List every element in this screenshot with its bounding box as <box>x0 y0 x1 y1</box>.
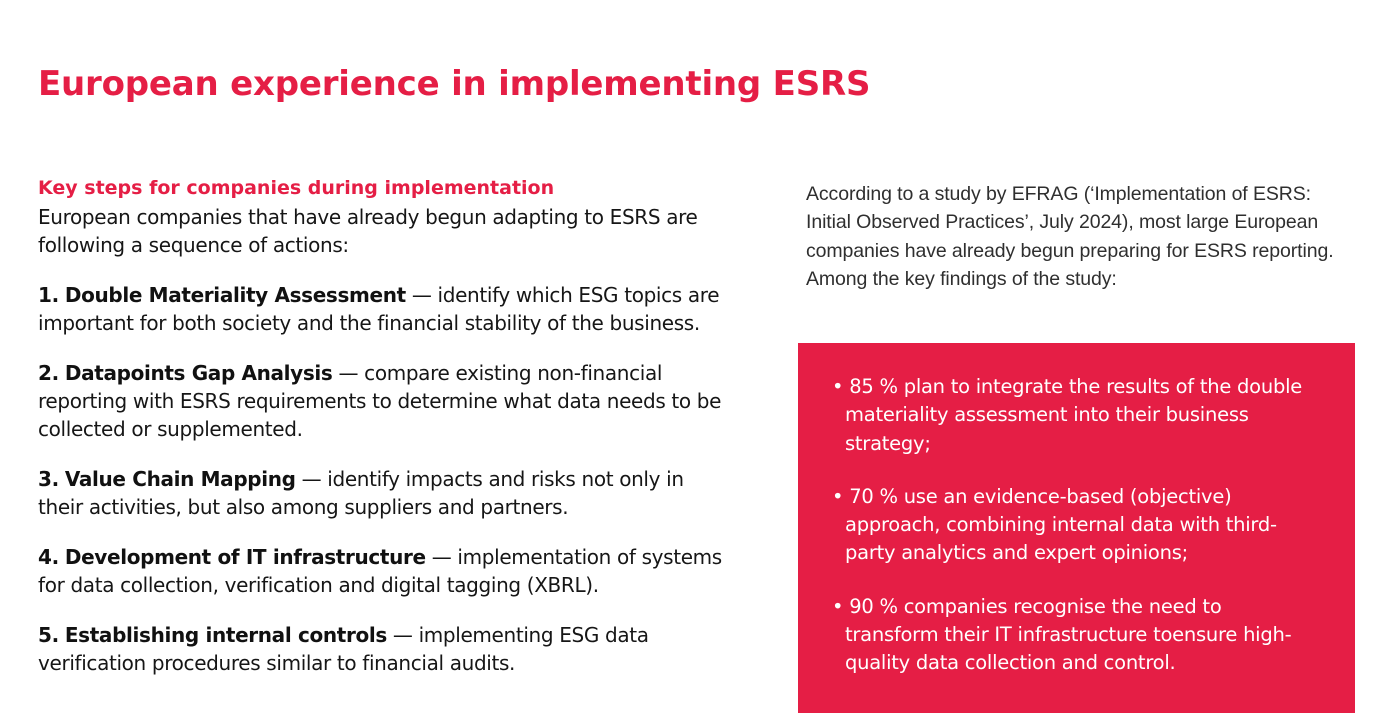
step-number: 1. <box>38 283 59 307</box>
right-content-column: According to a study by EFRAG (‘Implemen… <box>806 180 1351 294</box>
step-item: 4. Development of IT infrastructure — im… <box>38 543 728 599</box>
finding-item: • 70 % use an evidence-based (objective)… <box>845 483 1319 568</box>
step-number: 5. <box>38 623 59 647</box>
page-title: European experience in implementing ESRS <box>38 64 870 104</box>
step-number: 4. <box>38 545 59 569</box>
step-number: 2. <box>38 361 59 385</box>
left-column-intro: European companies that have already beg… <box>38 203 728 260</box>
step-term: Value Chain Mapping <box>65 467 296 491</box>
key-findings-callout-box: • 85 % plan to integrate the results of … <box>798 343 1355 713</box>
step-term: Datapoints Gap Analysis <box>65 361 333 385</box>
step-item: 3. Value Chain Mapping — identify impact… <box>38 465 728 521</box>
step-item: 1. Double Materiality Assessment — ident… <box>38 281 728 337</box>
left-column-heading: Key steps for companies during implement… <box>38 176 728 202</box>
left-content-column: Key steps for companies during implement… <box>38 176 728 677</box>
step-item: 5. Establishing internal controls — impl… <box>38 621 728 677</box>
finding-item: • 90 % companies recognise the need to t… <box>845 593 1319 678</box>
study-intro-text: According to a study by EFRAG (‘Implemen… <box>806 180 1351 294</box>
step-item: 2. Datapoints Gap Analysis — compare exi… <box>38 359 728 443</box>
finding-item: • 85 % plan to integrate the results of … <box>845 373 1319 458</box>
step-number: 3. <box>38 467 59 491</box>
step-term: Double Materiality Assessment <box>65 283 406 307</box>
step-term: Development of IT infrastructure <box>65 545 426 569</box>
step-term: Establishing internal controls <box>65 623 387 647</box>
